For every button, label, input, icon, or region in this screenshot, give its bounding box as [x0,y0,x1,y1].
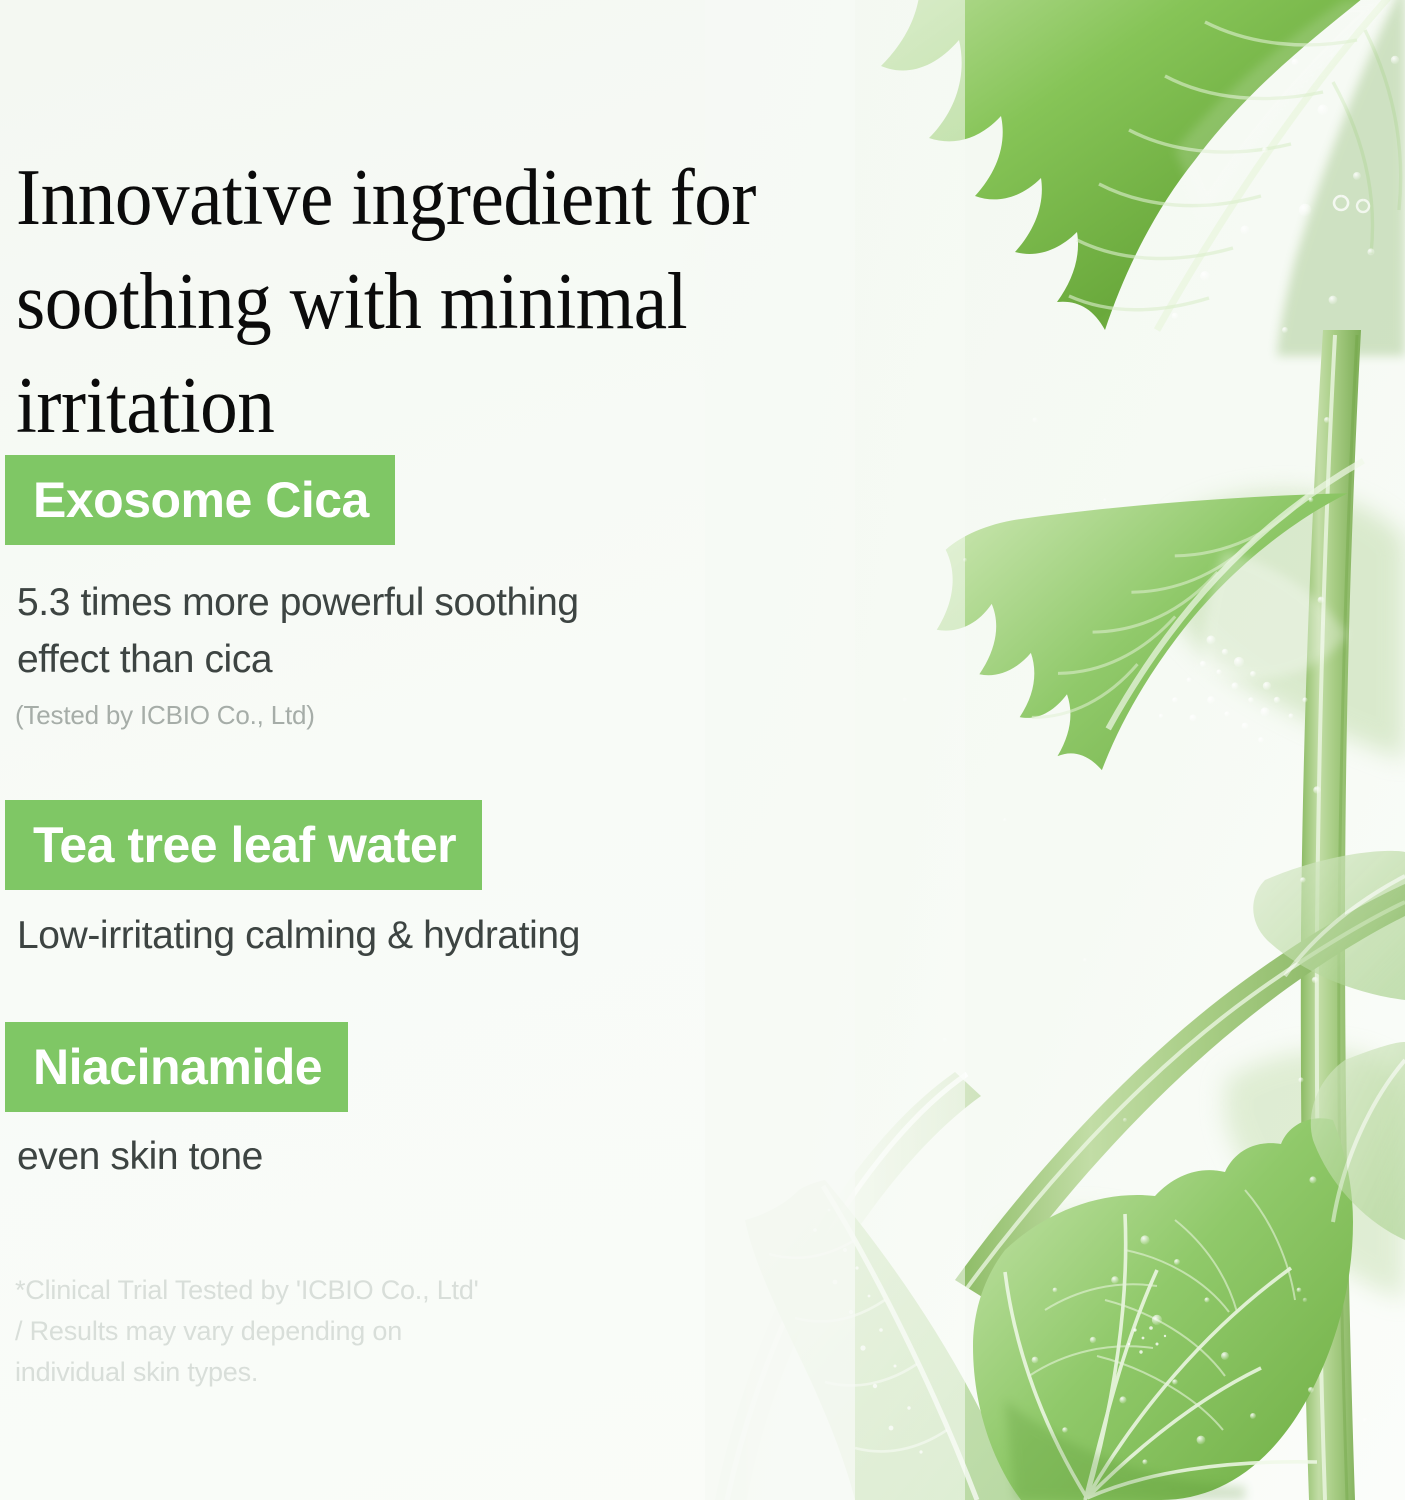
ingredient-description-niacinamide: even skin tone [17,1128,777,1185]
ingredient-description-tea-tree-leaf-water: Low-irritating calming & hydrating [17,907,777,964]
ingredient-chip-tea-tree-leaf-water: Tea tree leaf water [5,800,482,890]
product-ingredient-poster: Innovative ingredient for soothing with … [0,0,1405,1500]
page-headline: Innovative ingredient for soothing with … [16,146,768,458]
ingredient-description-exosome-cica: 5.3 times more powerful soothing effect … [17,574,777,688]
ingredient-subnote-exosome-cica: (Tested by ICBIO Co., Ltd) [15,698,315,732]
text-column: Innovative ingredient for soothing with … [0,0,820,1500]
ingredient-chip-niacinamide: Niacinamide [5,1022,348,1112]
ingredient-chip-exosome-cica: Exosome Cica [5,455,395,545]
clinical-trial-footnote: *Clinical Trial Tested by 'ICBIO Co., Lt… [15,1270,715,1393]
